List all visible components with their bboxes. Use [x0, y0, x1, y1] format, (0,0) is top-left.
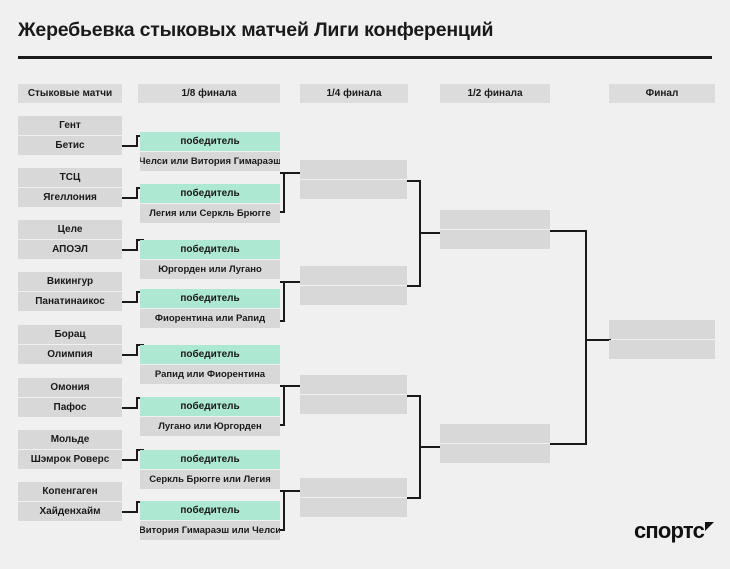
connector-playoff-6-v	[136, 397, 138, 408]
round-header-semi: 1/2 финала	[440, 84, 550, 103]
round-header-final: Финал	[609, 84, 715, 103]
connector-qf-in-1	[283, 172, 301, 174]
connector-sf-in-2	[419, 446, 441, 448]
connector-qf-sf-2-b	[407, 497, 421, 499]
round16-opponent[interactable]: Легия или Серкль Брюгге	[140, 204, 280, 223]
connector-sf-final-b	[550, 443, 587, 445]
round16-opponent[interactable]: Лугано или Юргорден	[140, 417, 280, 436]
connector-playoff-5-v	[136, 344, 138, 355]
connector-sf-final-v	[585, 230, 587, 445]
semi-slot-top[interactable]	[440, 210, 550, 229]
playoff-team[interactable]: Ягеллония	[18, 188, 122, 207]
round16-winner[interactable]: победитель	[140, 345, 280, 364]
logo-tick-icon	[705, 522, 714, 531]
round16-opponent[interactable]: Юргорден или Лугано	[140, 260, 280, 279]
round-header-quarter: 1/4 финала	[300, 84, 408, 103]
round16-winner[interactable]: победитель	[140, 501, 280, 520]
playoff-team[interactable]: Копенгаген	[18, 482, 122, 501]
round16-opponent[interactable]: Серкль Брюгге или Легия	[140, 470, 280, 489]
connector-playoff-1-v	[136, 135, 138, 146]
round16-winner[interactable]: победитель	[140, 132, 280, 151]
page-title: Жеребьевка стыковых матчей Лиги конферен…	[18, 19, 493, 42]
playoff-team[interactable]: Мольде	[18, 430, 122, 449]
connector-r16-qf-2-v	[283, 281, 285, 321]
quarter-slot-bottom[interactable]	[300, 498, 407, 517]
connector-qf-in-4	[283, 490, 301, 492]
connector-playoff-8-v	[136, 501, 138, 512]
semi-slot-top[interactable]	[440, 424, 550, 443]
quarter-slot-bottom[interactable]	[300, 286, 407, 305]
connector-r16-qf-4-b	[280, 529, 285, 531]
connector-r16-qf-1-v	[283, 172, 285, 212]
final-slot-top[interactable]	[609, 320, 715, 339]
playoff-team[interactable]: Панатинаикос	[18, 292, 122, 311]
round16-winner[interactable]: победитель	[140, 450, 280, 469]
quarter-slot-top[interactable]	[300, 375, 407, 394]
connector-playoff-2-v	[136, 187, 138, 198]
round16-opponent[interactable]: Рапид или Фиорентина	[140, 365, 280, 384]
round16-winner[interactable]: победитель	[140, 289, 280, 308]
playoff-team[interactable]: Шэмрок Роверс	[18, 450, 122, 469]
connector-r16-qf-3-b	[280, 424, 285, 426]
bracket-page: Жеребьевка стыковых матчей Лиги конферен…	[0, 0, 730, 569]
connector-playoff-7-v	[136, 449, 138, 460]
playoff-team[interactable]: Целе	[18, 220, 122, 239]
round16-winner[interactable]: победитель	[140, 184, 280, 203]
playoff-team[interactable]: Олимпия	[18, 345, 122, 364]
round16-opponent[interactable]: Витория Гимараэш или Челси	[140, 521, 280, 540]
quarter-slot-top[interactable]	[300, 478, 407, 497]
playoff-team[interactable]: Пафос	[18, 398, 122, 417]
logo-text: спортс	[634, 518, 704, 543]
round16-winner[interactable]: победитель	[140, 397, 280, 416]
sports-logo: спортс	[634, 518, 714, 544]
final-slot-bottom[interactable]	[609, 340, 715, 359]
connector-r16-qf-1-b	[280, 211, 285, 213]
connector-r16-qf-2-b	[280, 320, 285, 322]
semi-slot-bottom[interactable]	[440, 444, 550, 463]
playoff-team[interactable]: Бетис	[18, 136, 122, 155]
round16-opponent[interactable]: Челси или Витория Гимараэш	[140, 152, 280, 171]
playoff-team[interactable]: Викингур	[18, 272, 122, 291]
playoff-team[interactable]: Омония	[18, 378, 122, 397]
connector-qf-sf-1-t	[407, 180, 421, 182]
connector-r16-qf-3-v	[283, 385, 285, 425]
connector-playoff-4-v	[136, 291, 138, 302]
round-header-playoff: Стыковые матчи	[18, 84, 122, 103]
quarter-slot-top[interactable]	[300, 266, 407, 285]
quarter-slot-bottom[interactable]	[300, 395, 407, 414]
round16-winner[interactable]: победитель	[140, 240, 280, 259]
playoff-team[interactable]: Борац	[18, 325, 122, 344]
connector-sf-in-1	[419, 232, 441, 234]
round-header-round16: 1/8 финала	[138, 84, 280, 103]
connector-qf-sf-1-b	[407, 285, 421, 287]
title-divider	[18, 56, 712, 59]
quarter-slot-top[interactable]	[300, 160, 407, 179]
quarter-slot-bottom[interactable]	[300, 180, 407, 199]
connector-playoff-3-v	[136, 239, 138, 250]
round16-opponent[interactable]: Фиорентина или Рапид	[140, 309, 280, 328]
semi-slot-bottom[interactable]	[440, 230, 550, 249]
connector-final-in	[585, 339, 611, 341]
playoff-team[interactable]: ТСЦ	[18, 168, 122, 187]
connector-qf-in-2	[283, 281, 301, 283]
connector-qf-in-3	[283, 385, 301, 387]
connector-sf-final-t	[550, 230, 587, 232]
connector-qf-sf-2-t	[407, 395, 421, 397]
playoff-team[interactable]: Гент	[18, 116, 122, 135]
playoff-team[interactable]: Хайденхайм	[18, 502, 122, 521]
connector-r16-qf-4-v	[283, 490, 285, 530]
playoff-team[interactable]: АПОЭЛ	[18, 240, 122, 259]
